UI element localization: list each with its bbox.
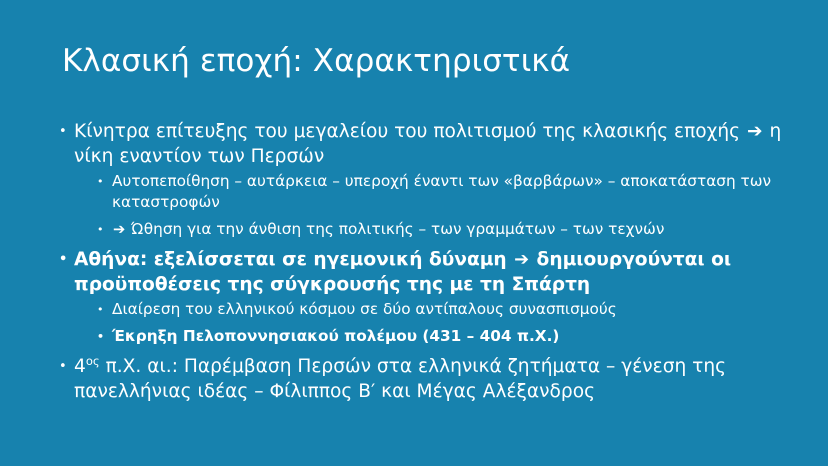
bullet-text-motives-part1: Κίνητρα επίτευξης του μεγαλείου του πολι… xyxy=(74,121,746,142)
arrow-right-icon: ➔ xyxy=(746,121,764,142)
presentation-slide: Κλασική εποχή: Χαρακτηριστικά • Κίνητρα … xyxy=(0,0,828,466)
bullet-text-peloponnesian-war: Έκρηξη Πελοποννησιακού πολέμου (431 – 40… xyxy=(112,327,559,345)
bullet-text-fourth-century-rest: π.Χ. αι.: Παρέμβαση Περσών στα ελληνικά … xyxy=(74,356,726,402)
bullet-text-self-confidence: Αυτοπεποίθηση – αυτάρκεια – υπεροχή έναν… xyxy=(112,172,771,211)
arrow-right-icon: ➔ xyxy=(513,249,530,270)
bullet-marker-icon: • xyxy=(97,219,104,240)
bullet-item-peloponnesian-war: • Έκρηξη Πελοποννησιακού πολέμου (431 – … xyxy=(96,326,818,347)
arrow-right-icon: ➔ xyxy=(112,221,126,238)
bullet-marker-icon: • xyxy=(59,119,67,144)
ordinal-suffix: ος xyxy=(86,354,100,368)
bullet-marker-icon: • xyxy=(59,354,67,379)
bullet-text-athens-part1: Αθήνα: εξελίσσεται σε ηγεμονική δύναμη xyxy=(74,249,513,270)
bullet-text-impulse: Ώθηση για την άνθιση της πολιτικής – των… xyxy=(126,220,664,238)
bullet-item-impulse: • ➔ Ώθηση για την άνθιση της πολιτικής –… xyxy=(96,219,818,240)
bullet-item-athens: • Αθήνα: εξελίσσεται σε ηγεμονική δύναμη… xyxy=(58,247,818,297)
slide-body: • Κίνητρα επίτευξης του μεγαλείου του πο… xyxy=(58,119,818,404)
bullet-item-fourth-century: • 4ος π.Χ. αι.: Παρέμβαση Περσών στα ελλ… xyxy=(58,354,818,404)
bullet-marker-icon: • xyxy=(97,171,104,192)
bullet-text-division: Διαίρεση του ελληνικού κόσμου σε δύο αντ… xyxy=(112,300,617,318)
bullet-list-level2-motives: • Αυτοπεποίθηση – αυτάρκεια – υπεροχή έν… xyxy=(96,171,818,240)
bullet-marker-icon: • xyxy=(97,299,104,320)
bullet-marker-icon: • xyxy=(59,247,67,272)
bullet-item-division: • Διαίρεση του ελληνικού κόσμου σε δύο α… xyxy=(96,299,818,320)
bullet-text-fourth-century-number: 4 xyxy=(74,356,86,377)
bullet-marker-icon: • xyxy=(97,326,104,347)
bullet-item-motives: • Κίνητρα επίτευξης του μεγαλείου του πο… xyxy=(58,119,818,169)
slide-title: Κλασική εποχή: Χαρακτηριστικά xyxy=(62,42,782,80)
bullet-list-level2-athens: • Διαίρεση του ελληνικού κόσμου σε δύο α… xyxy=(96,299,818,347)
bullet-list-level1: • Κίνητρα επίτευξης του μεγαλείου του πο… xyxy=(58,119,818,404)
bullet-item-self-confidence: • Αυτοπεποίθηση – αυτάρκεια – υπεροχή έν… xyxy=(96,171,818,213)
